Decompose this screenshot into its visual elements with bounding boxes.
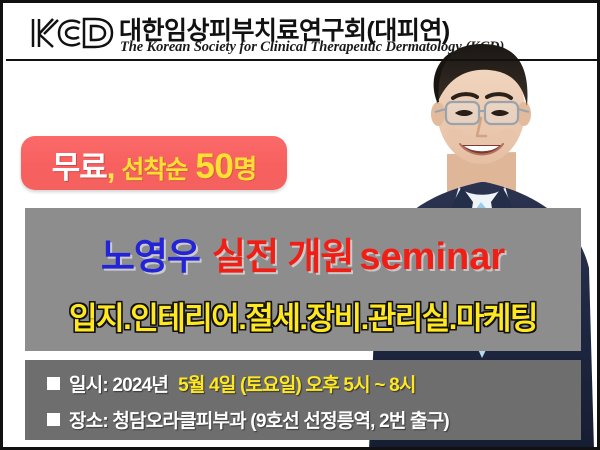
info-band: 일시: 2024년 5월 4일 (토요일) 오후 5시 ~ 8시 장소: 청담오… — [25, 360, 581, 440]
kcd-monogram-logo-icon — [28, 14, 116, 52]
badge-content: 무료 , 선착순 50 명 — [52, 142, 257, 187]
free-admission-badge: 무료 , 선착순 50 명 — [21, 136, 287, 190]
topics-list: 입지.인테리어.절세.장비.관리실.마케팅 — [25, 293, 581, 338]
title-band: 노영우실전 개원seminar 입지.인테리어.절세.장비.관리실.마케팅 — [25, 208, 581, 351]
badge-first-come-label: 선착순 — [121, 150, 187, 186]
date-label: 일시: 2024년 — [69, 370, 168, 397]
header-divider — [6, 59, 600, 61]
venue-row: 장소: 청담오라클피부과 (9호선 선정릉역, 2번 출구) — [47, 406, 449, 433]
filled-square-bullet-icon — [47, 377, 60, 390]
kcd-logo-svg — [28, 14, 116, 52]
organization-name-english: The Korean Society for Clinical Therapeu… — [120, 39, 504, 56]
badge-seat-count: 50 — [195, 147, 233, 187]
filled-square-bullet-icon — [47, 413, 60, 426]
badge-free-label: 무료 — [52, 142, 107, 187]
seminar-poster: 대한임상피부치료연구회(대피연) The Korean Society for … — [0, 0, 600, 450]
seminar-title: 노영우실전 개원seminar — [25, 226, 581, 280]
badge-comma: , — [107, 150, 116, 186]
badge-seat-unit: 명 — [233, 149, 256, 186]
seminar-word: seminar — [359, 236, 505, 278]
venue-text: 장소: 청담오라클피부과 (9호선 선정릉역, 2번 출구) — [69, 406, 449, 433]
date-row: 일시: 2024년 5월 4일 (토요일) 오후 5시 ~ 8시 — [47, 370, 416, 397]
poster-header: 대한임상피부치료연구회(대피연) The Korean Society for … — [6, 6, 600, 59]
speaker-name: 노영우 — [101, 236, 200, 277]
seminar-topic: 실전 개원 — [212, 236, 353, 277]
date-value: 5월 4일 (토요일) 오후 5시 ~ 8시 — [178, 370, 415, 397]
